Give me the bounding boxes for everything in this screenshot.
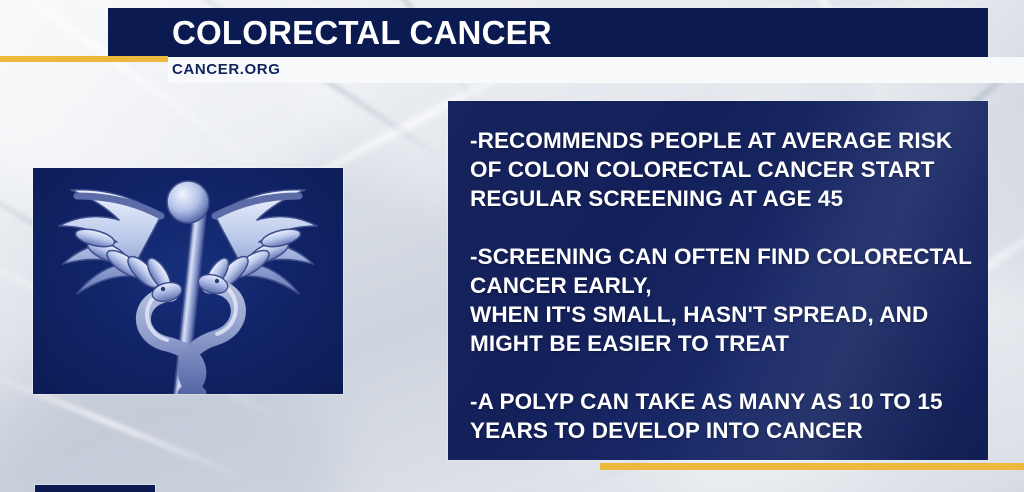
content-panel: -RECOMMENDS PEOPLE AT AVERAGE RISK OF CO… xyxy=(448,101,988,460)
caduceus-icon xyxy=(33,168,343,394)
lower-third-graphic: COLORECTAL CANCER CANCER.ORG xyxy=(0,0,1024,492)
list-item: -RECOMMENDS PEOPLE AT AVERAGE RISK OF CO… xyxy=(470,126,974,213)
page-title: COLORECTAL CANCER xyxy=(172,12,972,54)
source-label: CANCER.ORG xyxy=(172,59,281,81)
gold-accent-rule-bottom xyxy=(600,463,1024,470)
list-item: -A POLYP CAN TAKE AS MANY AS 10 TO 15 YE… xyxy=(470,387,974,445)
gold-accent-rule-top xyxy=(0,56,168,62)
image-panel xyxy=(33,168,343,394)
source-bar xyxy=(168,57,1024,83)
caduceus-finial xyxy=(167,181,209,223)
bottom-left-stub-bar xyxy=(35,485,155,492)
caduceus-left-wing xyxy=(59,190,175,294)
list-item: -SCREENING CAN OFTEN FIND COLORECTAL CAN… xyxy=(470,242,974,358)
bullet-list: -RECOMMENDS PEOPLE AT AVERAGE RISK OF CO… xyxy=(470,126,974,445)
